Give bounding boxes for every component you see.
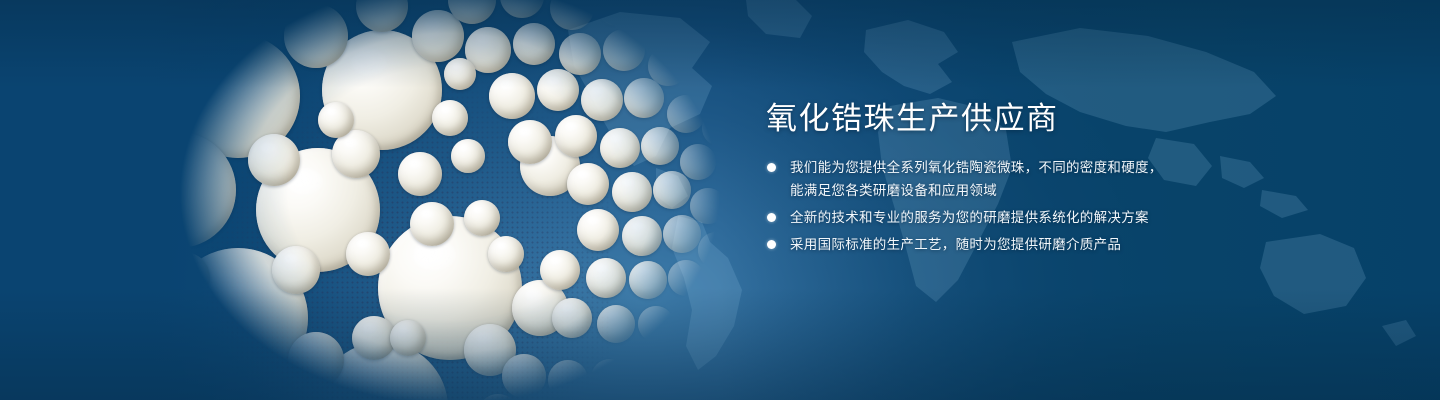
list-item-line: 采用国际标准的生产工艺，随时为您提供研磨介质产品 xyxy=(790,233,1322,256)
list-item-line: 我们能为您提供全系列氧化锆陶瓷微珠，不同的密度和硬度， xyxy=(790,156,1322,179)
feature-list: 我们能为您提供全系列氧化锆陶瓷微珠，不同的密度和硬度，能满足您各类研磨设备和应用… xyxy=(762,156,1322,256)
list-item-line: 全新的技术和专业的服务为您的研磨提供系统化的解决方案 xyxy=(790,206,1322,229)
hero-banner: 氧化锆珠生产供应商 我们能为您提供全系列氧化锆陶瓷微珠，不同的密度和硬度，能满足… xyxy=(0,0,1440,400)
page-title: 氧化锆珠生产供应商 xyxy=(766,98,1322,140)
list-item: 全新的技术和专业的服务为您的研磨提供系统化的解决方案 xyxy=(762,206,1322,229)
list-item-line: 能满足您各类研磨设备和应用领域 xyxy=(790,179,1322,202)
bullet-dot-icon xyxy=(767,213,776,222)
banner-copy: 氧化锆珠生产供应商 我们能为您提供全系列氧化锆陶瓷微珠，不同的密度和硬度，能满足… xyxy=(762,98,1322,260)
list-item: 我们能为您提供全系列氧化锆陶瓷微珠，不同的密度和硬度，能满足您各类研磨设备和应用… xyxy=(762,156,1322,202)
list-item: 采用国际标准的生产工艺，随时为您提供研磨介质产品 xyxy=(762,233,1322,256)
bullet-dot-icon xyxy=(767,240,776,249)
bullet-dot-icon xyxy=(767,163,776,172)
